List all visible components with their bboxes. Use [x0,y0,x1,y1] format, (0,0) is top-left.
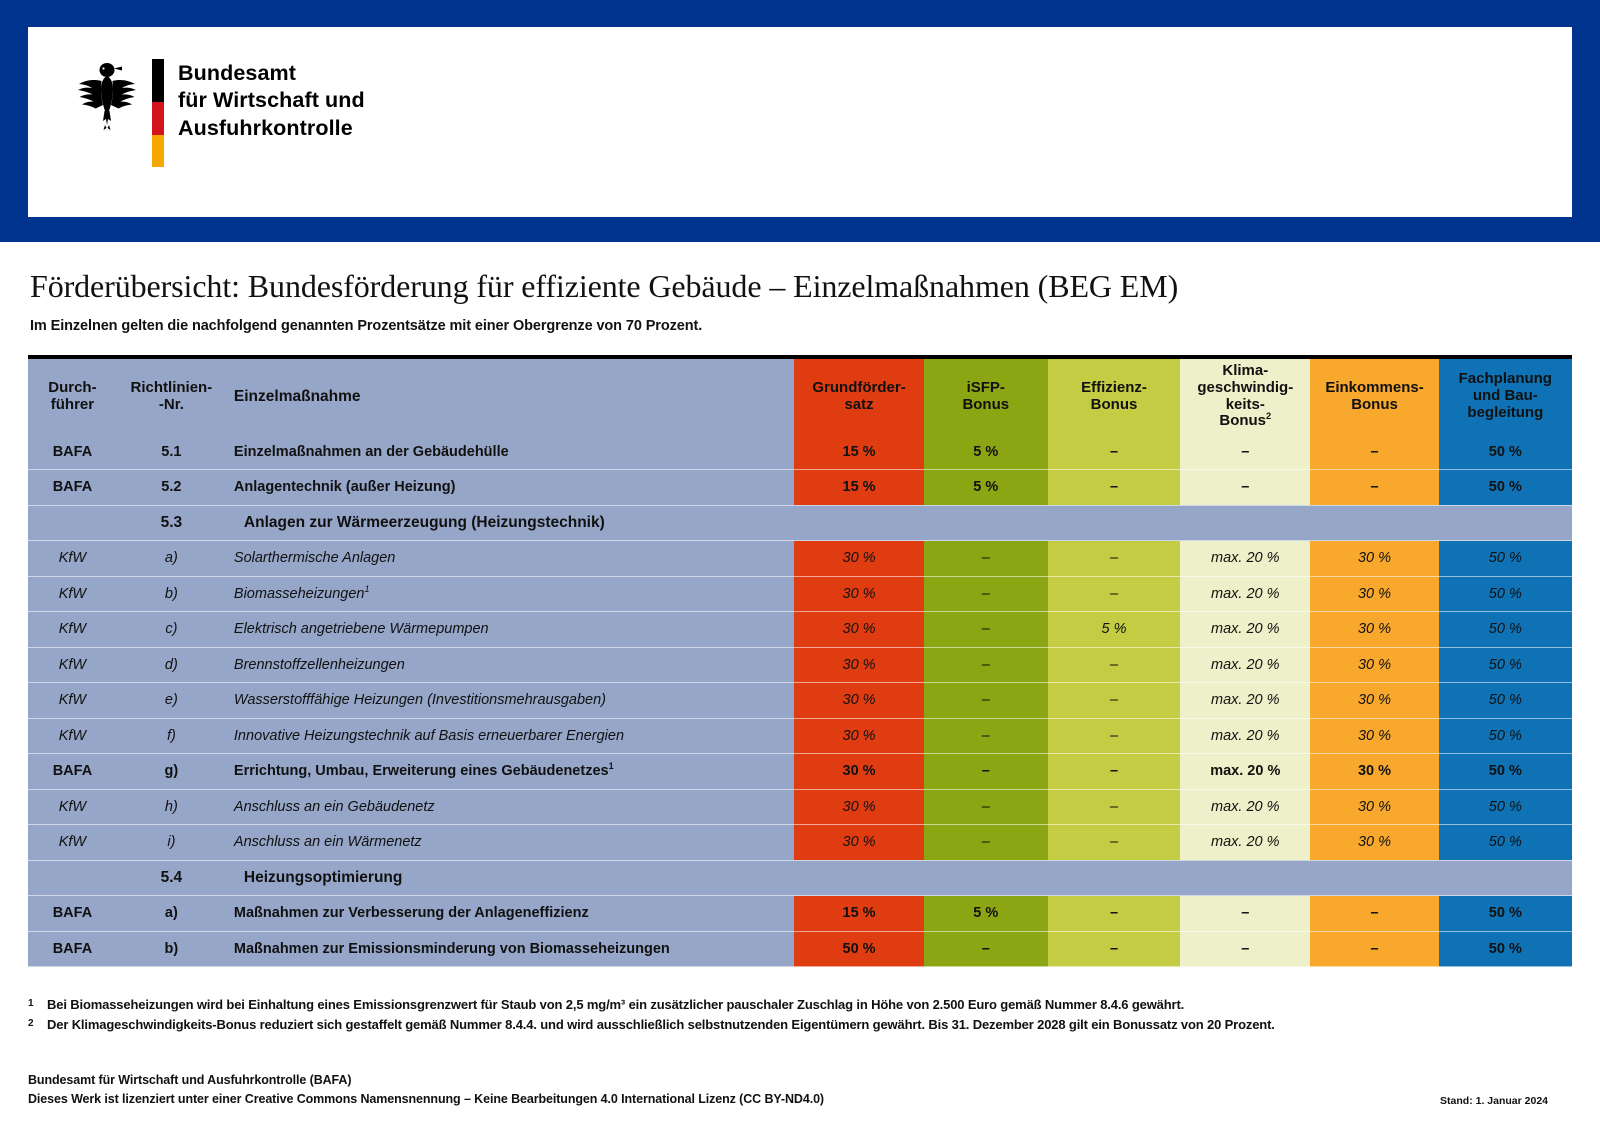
klima-bonus-word: Bonus [1219,412,1266,429]
cell-fachplanung: 50 % [1439,896,1572,932]
row-richtlinien-nr: 5.1 [117,434,226,470]
cell-einkommens-bonus: 30 % [1310,718,1438,754]
cell-effizienz-bonus: – [1048,576,1180,612]
footnote-text: Bei Biomasseheizungen wird bei Einhaltun… [47,995,1184,1015]
effizienz-line-1: Effizienz- [1051,380,1177,397]
row-spacer [778,576,794,612]
cell-grundfoerdersatz: 15 % [794,896,923,932]
cell-fachplanung: 50 % [1439,647,1572,683]
table-section-row: 5.4Heizungsoptimierung [28,860,1572,896]
klima-line-4: Bonus2 [1183,413,1307,430]
logo-line-2: für Wirtschaft und [178,87,365,114]
row-einzelmassnahme: Maßnahmen zur Emissionsminderung von Bio… [226,931,778,967]
col-header-effizienz-bonus: Effizienz- Bonus [1048,357,1180,434]
cell-effizienz-bonus: – [1048,789,1180,825]
row-measure-label: Einzelmaßnahmen an der Gebäudehülle [234,444,509,460]
row-spacer [778,612,794,648]
cell-klima-bonus: – [1180,470,1310,506]
durchfuehrer-line-2: führer [36,397,109,414]
row-richtlinien-nr: h) [117,789,226,825]
row-measure-label: Elektrisch angetriebene Wärmepumpen [234,621,489,637]
col-header-klimageschwindigkeits-bonus: Klima- geschwindig- keits- Bonus2 [1180,357,1310,434]
cell-klima-bonus: max. 20 % [1180,718,1310,754]
cell-grundfoerdersatz: 30 % [794,825,923,861]
table-row: KfWe)Wasserstofffähige Heizungen (Invest… [28,683,1572,719]
row-spacer [778,470,794,506]
cell-isfp-bonus: – [924,754,1048,790]
cell-grundfoerdersatz: 30 % [794,789,923,825]
german-flag-bar-icon [152,59,164,167]
row-einzelmassnahme: Anschluss an ein Gebäudenetz [226,789,778,825]
row-richtlinien-nr: d) [117,647,226,683]
row-durchfuehrer: KfW [28,541,117,577]
table-row: BAFAg)Errichtung, Umbau, Erweiterung ein… [28,754,1572,790]
cell-klima-bonus: – [1180,434,1310,470]
row-einzelmassnahme: Einzelmaßnahmen an der Gebäudehülle [226,434,778,470]
row-einzelmassnahme: Wasserstofffähige Heizungen (Investition… [226,683,778,719]
richtlinie-line-2: -Nr. [125,397,218,414]
logo-text: Bundesamt für Wirtschaft und Ausfuhrkont… [178,59,365,142]
row-einzelmassnahme: Errichtung, Umbau, Erweiterung eines Geb… [226,754,778,790]
page-subtitle: Im Einzelnen gelten die nachfolgend gena… [30,318,702,334]
cell-klima-bonus: max. 20 % [1180,576,1310,612]
row-durchfuehrer [28,505,117,541]
cell-klima-bonus: max. 20 % [1180,789,1310,825]
cell-fachplanung: 50 % [1439,683,1572,719]
row-richtlinien-nr: g) [117,754,226,790]
cell-klima-bonus: max. 20 % [1180,647,1310,683]
isfp-line-2: Bonus [927,397,1045,414]
footnote: 2Der Klimageschwindigkeits-Bonus reduzie… [28,1015,1548,1035]
cell-isfp-bonus: – [924,789,1048,825]
cell-klima-bonus: max. 20 % [1180,754,1310,790]
row-spacer [778,718,794,754]
cell-grundfoerdersatz: 15 % [794,434,923,470]
cell-effizienz-bonus: – [1048,434,1180,470]
row-richtlinien-nr: 5.3 [117,505,226,541]
cell-grundfoerdersatz: 30 % [794,683,923,719]
cell-fachplanung: 50 % [1439,825,1572,861]
cell-effizienz-bonus: – [1048,754,1180,790]
row-einzelmassnahme: Maßnahmen zur Verbesserung der Anlagenef… [226,896,778,932]
cell-isfp-bonus: – [924,541,1048,577]
table-row: KfWc)Elektrisch angetriebene Wärmepumpen… [28,612,1572,648]
table-row: BAFAa)Maßnahmen zur Verbesserung der Anl… [28,896,1572,932]
row-einzelmassnahme: Brennstoffzellenheizungen [226,647,778,683]
cell-einkommens-bonus: 30 % [1310,576,1438,612]
durchfuehrer-line-1: Durch- [36,380,109,397]
footer-stand-date: Stand: 1. Januar 2024 [1440,1095,1548,1107]
cell-isfp-bonus: – [924,576,1048,612]
row-spacer [778,825,794,861]
row-einzelmassnahme: Solarthermische Anlagen [226,541,778,577]
table-row: KfWi)Anschluss an ein Wärmenetz30 %––max… [28,825,1572,861]
logo-line-3: Ausfuhrkontrolle [178,115,365,142]
cell-effizienz-bonus: – [1048,825,1180,861]
row-measure-label: Maßnahmen zur Verbesserung der Anlagenef… [234,905,589,921]
header-blue-band: Bundesamt für Wirtschaft und Ausfuhrkont… [0,0,1600,242]
cell-isfp-bonus: – [924,825,1048,861]
fach-line-3: begleitung [1442,405,1569,422]
col-header-einzelmassnahme: Einzelmaßnahme [226,357,778,434]
row-durchfuehrer: BAFA [28,896,117,932]
cell-fachplanung: 50 % [1439,576,1572,612]
cell-grundfoerdersatz: 30 % [794,576,923,612]
cell-effizienz-bonus: – [1048,896,1180,932]
table-header-row: Durch- führer Richtlinien- -Nr. Einzelma… [28,357,1572,434]
cell-grundfoerdersatz: 50 % [794,931,923,967]
row-durchfuehrer: KfW [28,825,117,861]
einkommen-line-2: Bonus [1313,397,1435,414]
col-header-durchfuehrer: Durch- führer [28,357,117,434]
row-footnote-ref: 1 [609,762,614,772]
row-measure-label: Innovative Heizungstechnik auf Basis ern… [234,728,624,744]
isfp-line-1: iSFP- [927,380,1045,397]
table-row: KfWa)Solarthermische Anlagen30 %––max. 2… [28,541,1572,577]
table-body: BAFA5.1Einzelmaßnahmen an der Gebäudehül… [28,434,1572,967]
row-richtlinien-nr: b) [117,931,226,967]
row-measure-label: Anschluss an ein Wärmenetz [234,834,422,850]
row-richtlinien-nr: f) [117,718,226,754]
row-spacer [778,541,794,577]
cell-klima-bonus: max. 20 % [1180,612,1310,648]
funding-table: Durch- führer Richtlinien- -Nr. Einzelma… [28,355,1572,967]
col-header-fachplanung-baubegleitung: Fachplanung und Bau- begleitung [1439,357,1572,434]
row-spacer [778,896,794,932]
cell-einkommens-bonus: 30 % [1310,825,1438,861]
row-measure-label: Wasserstofffähige Heizungen (Investition… [234,692,606,708]
effizienz-line-2: Bonus [1051,397,1177,414]
einkommen-line-1: Einkommens- [1313,380,1435,397]
footer-line-2: Dieses Werk ist lizenziert unter einer C… [28,1090,1572,1109]
cell-grundfoerdersatz: 30 % [794,718,923,754]
row-durchfuehrer: KfW [28,789,117,825]
row-einzelmassnahme: Innovative Heizungstechnik auf Basis ern… [226,718,778,754]
table-row: BAFA5.2Anlagentechnik (außer Heizung)15 … [28,470,1572,506]
cell-isfp-bonus: – [924,612,1048,648]
cell-isfp-bonus: – [924,718,1048,754]
cell-grundfoerdersatz: 30 % [794,754,923,790]
row-spacer [778,683,794,719]
footnote-marker: 1 [28,995,38,1015]
row-spacer [778,789,794,825]
footnote: 1Bei Biomasseheizungen wird bei Einhaltu… [28,995,1548,1015]
cell-fachplanung: 50 % [1439,931,1572,967]
cell-einkommens-bonus: – [1310,931,1438,967]
klima-line-3: keits- [1183,397,1307,414]
cell-grundfoerdersatz: 30 % [794,541,923,577]
table-row: KfWb)Biomasseheizungen130 %––max. 20 %30… [28,576,1572,612]
footnotes: 1Bei Biomasseheizungen wird bei Einhaltu… [28,995,1548,1034]
grund-line-1: Grundförder- [797,380,920,397]
table-row: KfWf)Innovative Heizungstechnik auf Basi… [28,718,1572,754]
table-row: BAFAb)Maßnahmen zur Emissionsminderung v… [28,931,1572,967]
cell-effizienz-bonus: – [1048,541,1180,577]
row-spacer [778,931,794,967]
page-title: Förderübersicht: Bundesförderung für eff… [30,268,1178,305]
section-row-filler [778,860,1572,896]
cell-effizienz-bonus: – [1048,647,1180,683]
cell-fachplanung: 50 % [1439,754,1572,790]
table-row: KfWh)Anschluss an ein Gebäudenetz30 %––m… [28,789,1572,825]
header-spacer [778,357,794,434]
cell-klima-bonus: max. 20 % [1180,683,1310,719]
cell-einkommens-bonus: 30 % [1310,754,1438,790]
cell-fachplanung: 50 % [1439,434,1572,470]
cell-effizienz-bonus: – [1048,931,1180,967]
cell-effizienz-bonus: – [1048,718,1180,754]
table-section-row: 5.3Anlagen zur Wärmeerzeugung (Heizungst… [28,505,1572,541]
row-measure-label: Biomasseheizungen [234,586,365,602]
table-row: KfWd)Brennstoffzellenheizungen30 %––max.… [28,647,1572,683]
cell-fachplanung: 50 % [1439,612,1572,648]
cell-fachplanung: 50 % [1439,541,1572,577]
cell-einkommens-bonus: – [1310,470,1438,506]
row-durchfuehrer: BAFA [28,470,117,506]
cell-klima-bonus: – [1180,896,1310,932]
klima-line-2: geschwindig- [1183,380,1307,397]
row-richtlinien-nr: i) [117,825,226,861]
col-header-richtlinien-nr: Richtlinien- -Nr. [117,357,226,434]
row-einzelmassnahme: Heizungsoptimierung [226,860,778,896]
cell-klima-bonus: – [1180,931,1310,967]
footer-line-1: Bundesamt für Wirtschaft und Ausfuhrkont… [28,1071,1572,1090]
cell-isfp-bonus: 5 % [924,470,1048,506]
cell-klima-bonus: max. 20 % [1180,541,1310,577]
row-richtlinien-nr: a) [117,541,226,577]
row-richtlinien-nr: 5.2 [117,470,226,506]
row-spacer [778,754,794,790]
bafa-logo: Bundesamt für Wirtschaft und Ausfuhrkont… [76,59,365,167]
cell-isfp-bonus: – [924,647,1048,683]
row-spacer [778,647,794,683]
page-footer: Bundesamt für Wirtschaft und Ausfuhrkont… [28,1071,1572,1109]
richtlinie-line-1: Richtlinien- [125,380,218,397]
cell-einkommens-bonus: 30 % [1310,541,1438,577]
federal-eagle-icon [76,59,138,131]
col-header-isfp-bonus: iSFP- Bonus [924,357,1048,434]
footnote-marker: 2 [28,1015,38,1035]
cell-fachplanung: 50 % [1439,718,1572,754]
cell-grundfoerdersatz: 15 % [794,470,923,506]
row-einzelmassnahme: Anschluss an ein Wärmenetz [226,825,778,861]
row-measure-label: Anschluss an ein Gebäudenetz [234,799,435,815]
cell-einkommens-bonus: 30 % [1310,612,1438,648]
col-header-einkommens-bonus: Einkommens- Bonus [1310,357,1438,434]
row-measure-label: Solarthermische Anlagen [234,550,395,566]
row-measure-label: Brennstoffzellenheizungen [234,657,405,673]
table-row: BAFA5.1Einzelmaßnahmen an der Gebäudehül… [28,434,1572,470]
fach-line-2: und Bau- [1442,388,1569,405]
row-durchfuehrer: KfW [28,647,117,683]
cell-effizienz-bonus: 5 % [1048,612,1180,648]
row-durchfuehrer: KfW [28,718,117,754]
cell-isfp-bonus: 5 % [924,896,1048,932]
row-richtlinien-nr: c) [117,612,226,648]
row-durchfuehrer: BAFA [28,931,117,967]
cell-grundfoerdersatz: 30 % [794,612,923,648]
section-row-filler [778,505,1572,541]
cell-einkommens-bonus: 30 % [1310,789,1438,825]
cell-effizienz-bonus: – [1048,470,1180,506]
row-durchfuehrer [28,860,117,896]
col-header-grundfoerdersatz: Grundförder- satz [794,357,923,434]
row-spacer [778,434,794,470]
row-durchfuehrer: KfW [28,683,117,719]
row-einzelmassnahme: Elektrisch angetriebene Wärmepumpen [226,612,778,648]
cell-isfp-bonus: – [924,931,1048,967]
cell-einkommens-bonus: – [1310,896,1438,932]
cell-einkommens-bonus: 30 % [1310,647,1438,683]
row-richtlinien-nr: e) [117,683,226,719]
cell-effizienz-bonus: – [1048,683,1180,719]
logo-line-1: Bundesamt [178,60,365,87]
cell-isfp-bonus: – [924,683,1048,719]
footer-left-text: Bundesamt für Wirtschaft und Ausfuhrkont… [28,1071,1572,1109]
klima-footnote-ref: 2 [1266,411,1271,421]
footnote-text: Der Klimageschwindigkeits-Bonus reduzier… [47,1015,1275,1035]
klima-line-1: Klima- [1183,363,1307,380]
row-durchfuehrer: KfW [28,576,117,612]
cell-einkommens-bonus: 30 % [1310,683,1438,719]
cell-fachplanung: 50 % [1439,470,1572,506]
cell-grundfoerdersatz: 30 % [794,647,923,683]
cell-einkommens-bonus: – [1310,434,1438,470]
row-footnote-ref: 1 [365,584,370,594]
cell-fachplanung: 50 % [1439,789,1572,825]
row-richtlinien-nr: 5.4 [117,860,226,896]
row-durchfuehrer: BAFA [28,434,117,470]
row-richtlinien-nr: b) [117,576,226,612]
fach-line-1: Fachplanung [1442,371,1569,388]
row-measure-label: Errichtung, Umbau, Erweiterung eines Geb… [234,763,609,779]
cell-klima-bonus: max. 20 % [1180,825,1310,861]
row-measure-label: Anlagentechnik (außer Heizung) [234,479,456,495]
row-measure-label: Maßnahmen zur Emissionsminderung von Bio… [234,941,670,957]
logo-card: Bundesamt für Wirtschaft und Ausfuhrkont… [28,27,1572,217]
grund-line-2: satz [797,397,920,414]
row-einzelmassnahme: Biomasseheizungen1 [226,576,778,612]
row-einzelmassnahme: Anlagentechnik (außer Heizung) [226,470,778,506]
cell-isfp-bonus: 5 % [924,434,1048,470]
funding-table-wrapper: Durch- führer Richtlinien- -Nr. Einzelma… [28,355,1572,967]
row-einzelmassnahme: Anlagen zur Wärmeerzeugung (Heizungstech… [226,505,778,541]
row-durchfuehrer: BAFA [28,754,117,790]
row-richtlinien-nr: a) [117,896,226,932]
row-durchfuehrer: KfW [28,612,117,648]
